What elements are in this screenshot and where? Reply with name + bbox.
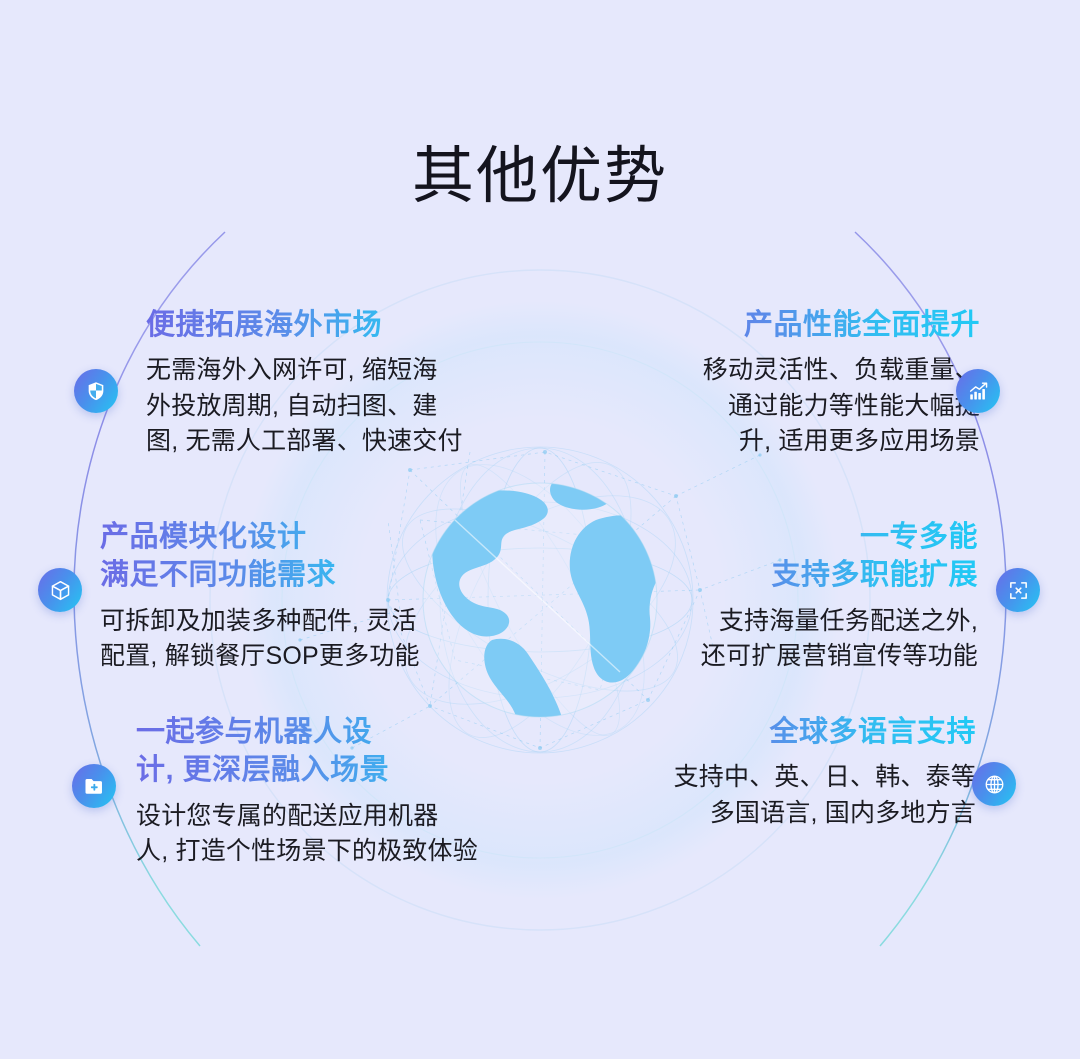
feature-body: 移动灵活性、负载重量、 通过能力等性能大幅提 升, 适用更多应用场景 — [632, 353, 980, 460]
feature-title: 便捷拓展海外市场 — [146, 306, 496, 344]
feature-product-performance: 产品性能全面提升 移动灵活性、负载重量、 通过能力等性能大幅提 升, 适用更多应… — [632, 306, 980, 460]
feature-overseas-expansion: 便捷拓展海外市场 无需海外入网许可, 缩短海 外投放周期, 自动扫图、建 图, … — [146, 306, 496, 460]
feature-multi-role: 一专多能 支持多职能扩展 支持海量任务配送之外, 还可扩展营销宣传等功能 — [630, 518, 978, 675]
feature-body: 支持中、英、日、韩、泰等 多国语言, 国内多地方言 — [628, 760, 976, 831]
expand-arrows-icon — [1007, 579, 1030, 602]
feature-body: 无需海外入网许可, 缩短海 外投放周期, 自动扫图、建 图, 无需人工部署、快速… — [146, 353, 496, 460]
feature-title: 产品模块化设计 满足不同功能需求 — [100, 518, 460, 595]
feature-icon-badge-product-performance — [956, 369, 1000, 413]
advantages-infographic: 其他优势 便捷拓展海外市场 无需海外入网许可, 缩短海 外投放周期, 自动扫图、… — [0, 0, 1080, 1059]
feature-title: 全球多语言支持 — [628, 713, 976, 751]
feature-multi-language: 全球多语言支持 支持中、英、日、韩、泰等 多国语言, 国内多地方言 — [628, 713, 976, 831]
page-title: 其他优势 — [0, 146, 1080, 208]
feature-icon-badge-multi-language — [972, 762, 1016, 806]
feature-body: 支持海量任务配送之外, 还可扩展营销宣传等功能 — [630, 604, 978, 675]
globe-icon — [983, 773, 1006, 796]
feature-body: 设计您专属的配送应用机器 人, 打造个性场景下的极致体验 — [136, 799, 556, 870]
feature-icon-badge-co-design — [72, 764, 116, 808]
feature-icon-badge-modular-design — [38, 568, 82, 612]
feature-title: 产品性能全面提升 — [632, 306, 980, 344]
cube-icon — [49, 579, 72, 602]
folder-plus-icon — [83, 775, 106, 798]
chart-growth-icon — [967, 380, 990, 403]
feature-icon-badge-overseas-expansion — [74, 369, 118, 413]
feature-title: 一专多能 支持多职能扩展 — [630, 518, 978, 595]
feature-icon-badge-multi-role — [996, 568, 1040, 612]
feature-modular-design: 产品模块化设计 满足不同功能需求 可拆卸及加装多种配件, 灵活 配置, 解锁餐厅… — [100, 518, 460, 675]
feature-title: 一起参与机器人设 计, 更深层融入场景 — [136, 713, 556, 790]
shield-icon — [85, 380, 107, 402]
feature-co-design: 一起参与机器人设 计, 更深层融入场景 设计您专属的配送应用机器 人, 打造个性… — [136, 713, 556, 870]
feature-body: 可拆卸及加装多种配件, 灵活 配置, 解锁餐厅SOP更多功能 — [100, 604, 460, 675]
